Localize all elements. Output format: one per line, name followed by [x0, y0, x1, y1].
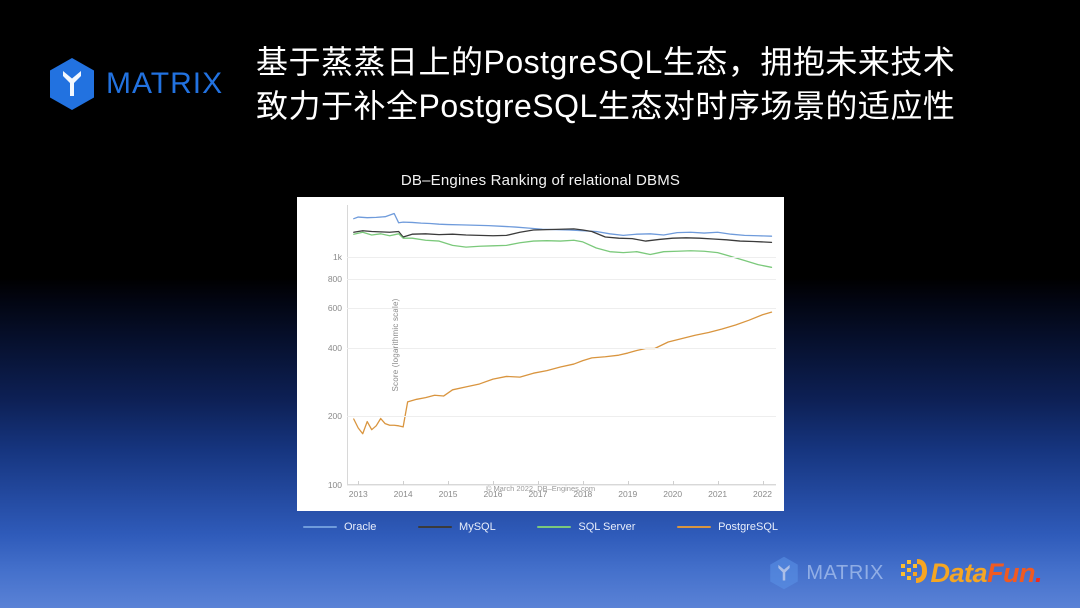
legend-item-mysql[interactable]: MySQL — [418, 521, 496, 533]
datafun-dot-text: . — [1035, 558, 1042, 588]
legend-item-oracle[interactable]: Oracle — [303, 521, 376, 533]
footer-matrix-logo: MATRIX — [769, 556, 884, 590]
datafun-wordmark: DataFun. — [930, 560, 1042, 587]
page-title: 基于蒸蒸日上的PostgreSQL生态，拥抱未来技术 致力于补全PostgreS… — [256, 40, 1056, 128]
slide-footer: MATRIX DataFun. — [0, 538, 1080, 608]
x-tick-mark — [403, 481, 404, 485]
chart-line-oracle — [354, 213, 772, 236]
chart-legend: OracleMySQLSQL ServerPostgreSQL — [297, 521, 784, 533]
legend-item-postgresql[interactable]: PostgreSQL — [677, 521, 778, 533]
footer-matrix-wordmark: MATRIX — [806, 563, 884, 583]
chart-plot-area: Score (logarithmic scale) 10020040060080… — [347, 205, 776, 485]
x-tick-mark — [763, 481, 764, 485]
y-tick-label: 800 — [328, 274, 342, 284]
datafun-data-text: Data — [930, 558, 987, 588]
hexagon-y-icon — [48, 57, 96, 111]
x-tick-mark — [718, 481, 719, 485]
y-tick-label: 1k — [333, 252, 342, 262]
x-tick-mark — [358, 481, 359, 485]
chart-card: Score (logarithmic scale) 10020040060080… — [297, 197, 784, 511]
dot-matrix-icon — [901, 557, 927, 590]
legend-swatch — [303, 526, 337, 528]
y-gridline — [347, 279, 776, 280]
chart-title: DB–Engines Ranking of relational DBMS — [297, 172, 784, 189]
x-tick-label: 2021 — [708, 489, 727, 499]
y-gridline — [347, 348, 776, 349]
slide: MATRIX 基于蒸蒸日上的PostgreSQL生态，拥抱未来技术 致力于补全P… — [0, 0, 1080, 608]
chart-attribution: © March 2022, DB–Engines.com — [486, 484, 595, 493]
legend-swatch — [418, 526, 452, 528]
x-tick-label: 2013 — [349, 489, 368, 499]
x-tick-label: 2020 — [663, 489, 682, 499]
x-tick-label: 2022 — [753, 489, 772, 499]
matrix-wordmark: MATRIX — [106, 69, 223, 99]
x-tick-label: 2014 — [394, 489, 413, 499]
chart-series-group — [347, 205, 776, 485]
x-tick-label: 2019 — [618, 489, 637, 499]
legend-swatch — [677, 526, 711, 528]
legend-label: PostgreSQL — [718, 521, 778, 533]
y-gridline — [347, 416, 776, 417]
y-tick-label: 200 — [328, 411, 342, 421]
y-gridline — [347, 257, 776, 258]
title-line-1: 基于蒸蒸日上的PostgreSQL生态，拥抱未来技术 — [256, 40, 1056, 84]
title-line-2: 致力于补全PostgreSQL生态对时序场景的适应性 — [256, 84, 1056, 128]
chart-line-sql-server — [354, 232, 772, 267]
y-tick-label: 400 — [328, 343, 342, 353]
legend-item-sql-server[interactable]: SQL Server — [537, 521, 635, 533]
y-tick-label: 100 — [328, 480, 342, 490]
x-tick-mark — [628, 481, 629, 485]
slide-header: MATRIX 基于蒸蒸日上的PostgreSQL生态，拥抱未来技术 致力于补全P… — [0, 0, 1080, 150]
x-tick-mark — [673, 481, 674, 485]
y-tick-label: 600 — [328, 303, 342, 313]
chart-line-postgresql — [354, 312, 772, 434]
matrix-logo: MATRIX — [48, 57, 223, 111]
datafun-logo: DataFun. — [901, 557, 1042, 589]
legend-label: MySQL — [459, 521, 496, 533]
x-tick-mark — [448, 481, 449, 485]
hexagon-y-icon — [769, 556, 799, 590]
x-tick-label: 2015 — [439, 489, 458, 499]
datafun-fun-text: Fun — [987, 558, 1035, 588]
y-gridline — [347, 308, 776, 309]
legend-label: SQL Server — [578, 521, 635, 533]
legend-swatch — [537, 526, 571, 528]
legend-label: Oracle — [344, 521, 376, 533]
